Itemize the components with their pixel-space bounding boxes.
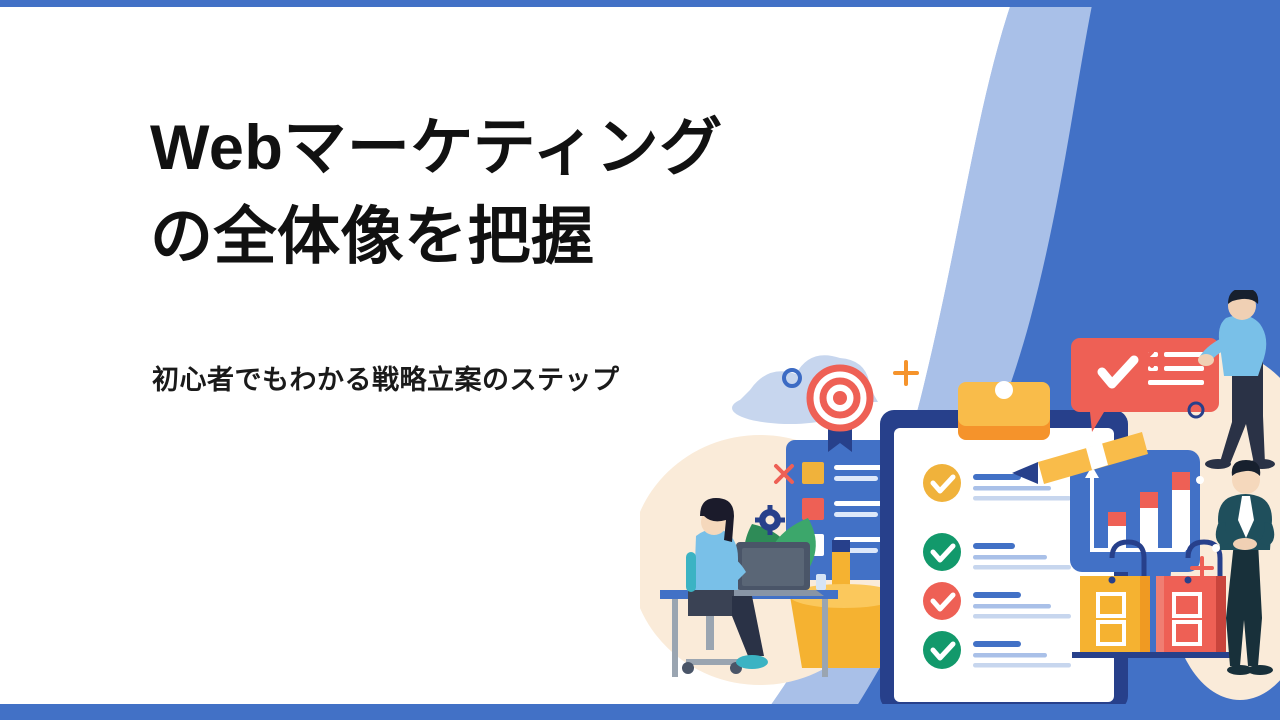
page-subtitle: 初心者でもわかる戦略立案のステップ (152, 358, 620, 397)
shoe (736, 655, 768, 669)
clipboard-clip-hole (995, 381, 1013, 399)
pencil-stripe (832, 540, 850, 552)
slide-canvas: Webマーケティング の全体像を把握 初心者でもわかる戦略立案のステップ (0, 0, 1280, 720)
plus-icon-orange (895, 362, 917, 384)
target-award-badge (810, 368, 870, 452)
chair (688, 590, 734, 616)
laptop-base (722, 590, 824, 596)
bottom-accent-bar (0, 704, 1280, 720)
page-title: Webマーケティング の全体像を把握 (150, 104, 980, 283)
top-accent-bar (0, 0, 1280, 7)
hero-illustration (640, 290, 1280, 720)
dot-icon-2 (1196, 476, 1204, 484)
dot-icon (1212, 544, 1220, 552)
